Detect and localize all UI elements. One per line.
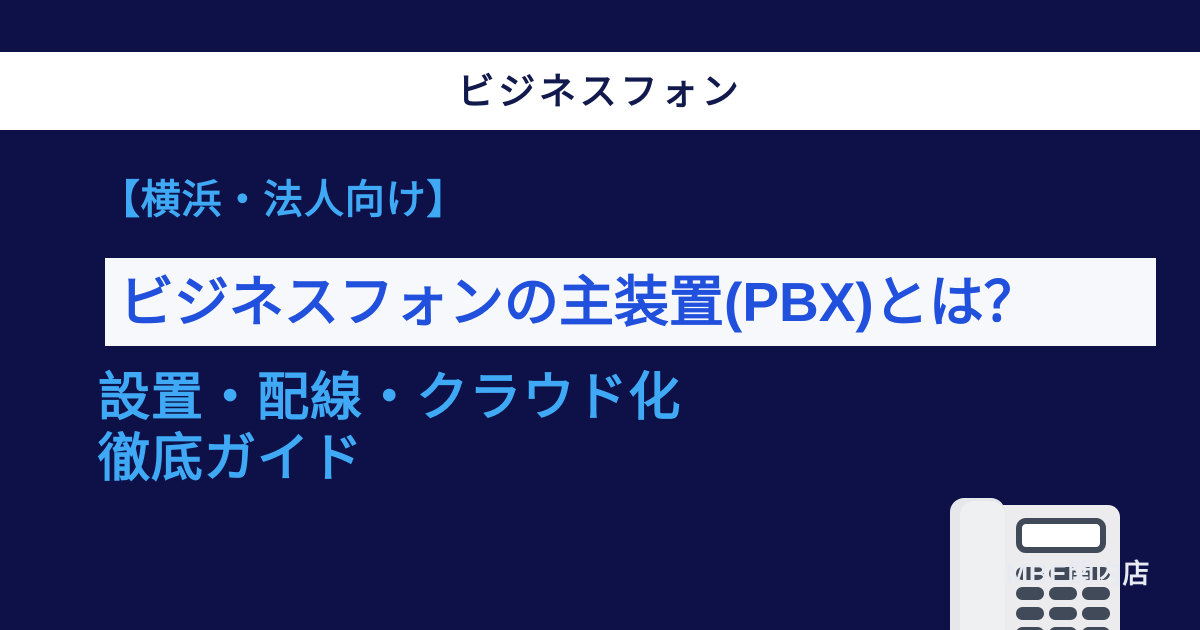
ogp-card: ビジネスフォン 【横浜・法人向け】 ビジネスフォンの主装置(PBX)とは？ 設置… [0,0,1200,630]
category-band: ビジネスフォン [0,52,1200,130]
main-content: 【横浜・法人向け】 ビジネスフォンの主装置(PBX)とは？ 設置・配線・クラウド… [0,130,1200,630]
phone-handset [950,498,1005,630]
phone-handset-highlight [960,501,1005,630]
phone-key [1082,607,1110,620]
phone-display-screen [1016,518,1106,553]
phone-key [1049,607,1077,620]
page-title: ビジネスフォンの主装置(PBX)とは？ [105,275,1039,330]
page-subtitle: 設置・配線・クラウド化 徹底ガイド [98,368,681,491]
phone-key [1016,607,1044,620]
brand-label: MBE関内店 [1006,561,1150,588]
category-label: ビジネスフォン [458,73,743,110]
eyebrow-label: 【横浜・法人向け】 [100,180,467,220]
title-highlight-band: ビジネスフォンの主装置(PBX)とは？ [105,258,1156,346]
top-navy-strip [0,0,1200,52]
